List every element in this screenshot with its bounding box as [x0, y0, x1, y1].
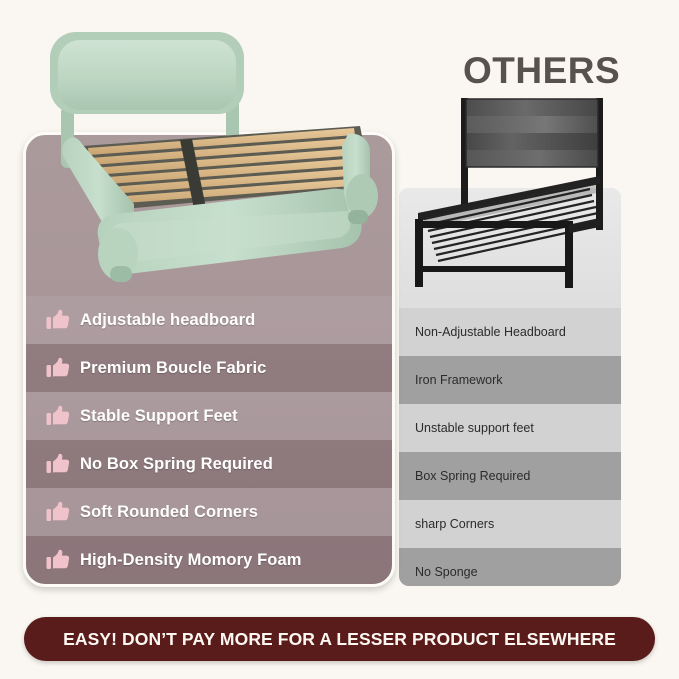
- competitor-feature-row: Iron Framework: [399, 356, 621, 404]
- product-bed-image: [30, 18, 410, 298]
- product-feature-label: Stable Support Feet: [80, 407, 238, 426]
- promo-banner: EASY! DON’T PAY MORE FOR A LESSER PRODUC…: [24, 617, 655, 661]
- competitor-feature-label: Iron Framework: [415, 373, 503, 387]
- competitor-feature-row: sharp Corners: [399, 500, 621, 548]
- product-feature-row: Stable Support Feet: [26, 392, 392, 440]
- competitor-feature-row: Unstable support feet: [399, 404, 621, 452]
- competitor-feature-row: Non-Adjustable Headboard: [399, 308, 621, 356]
- product-feature-row: Soft Rounded Corners: [26, 488, 392, 536]
- competitor-feature-label: Non-Adjustable Headboard: [415, 325, 566, 339]
- product-feature-row: Premium Boucle Fabric: [26, 344, 392, 392]
- product-feature-label: Adjustable headboard: [80, 311, 255, 330]
- product-feature-row: High-Density Momory Foam: [26, 536, 392, 584]
- promo-banner-text: EASY! DON’T PAY MORE FOR A LESSER PRODUC…: [63, 629, 616, 650]
- thumbs-up-icon: [46, 405, 70, 427]
- product-feature-label: High-Density Momory Foam: [80, 551, 302, 570]
- thumbs-up-icon: [46, 453, 70, 475]
- product-feature-list: Adjustable headboard Premium Boucle Fabr…: [26, 296, 392, 584]
- competitor-feature-row: No Sponge: [399, 548, 621, 586]
- competitor-feature-label: Unstable support feet: [415, 421, 534, 435]
- product-feature-row: Adjustable headboard: [26, 296, 392, 344]
- competitor-feature-label: No Sponge: [415, 565, 478, 579]
- product-feature-label: Soft Rounded Corners: [80, 503, 258, 522]
- others-heading: OTHERS: [463, 52, 620, 89]
- product-feature-row: No Box Spring Required: [26, 440, 392, 488]
- thumbs-up-icon: [46, 549, 70, 571]
- product-feature-label: Premium Boucle Fabric: [80, 359, 266, 378]
- competitor-feature-label: Box Spring Required: [415, 469, 530, 483]
- thumbs-up-icon: [46, 357, 70, 379]
- competitor-feature-label: sharp Corners: [415, 517, 494, 531]
- competitor-bed-image: [400, 88, 622, 288]
- thumbs-up-icon: [46, 501, 70, 523]
- competitor-feature-list: Non-Adjustable Headboard Iron Framework …: [399, 308, 621, 586]
- product-feature-label: No Box Spring Required: [80, 455, 273, 474]
- competitor-feature-row: Box Spring Required: [399, 452, 621, 500]
- infographic-canvas: OTHERS Non-Adjustable Headboard Iron Fra…: [0, 0, 679, 679]
- thumbs-up-icon: [46, 309, 70, 331]
